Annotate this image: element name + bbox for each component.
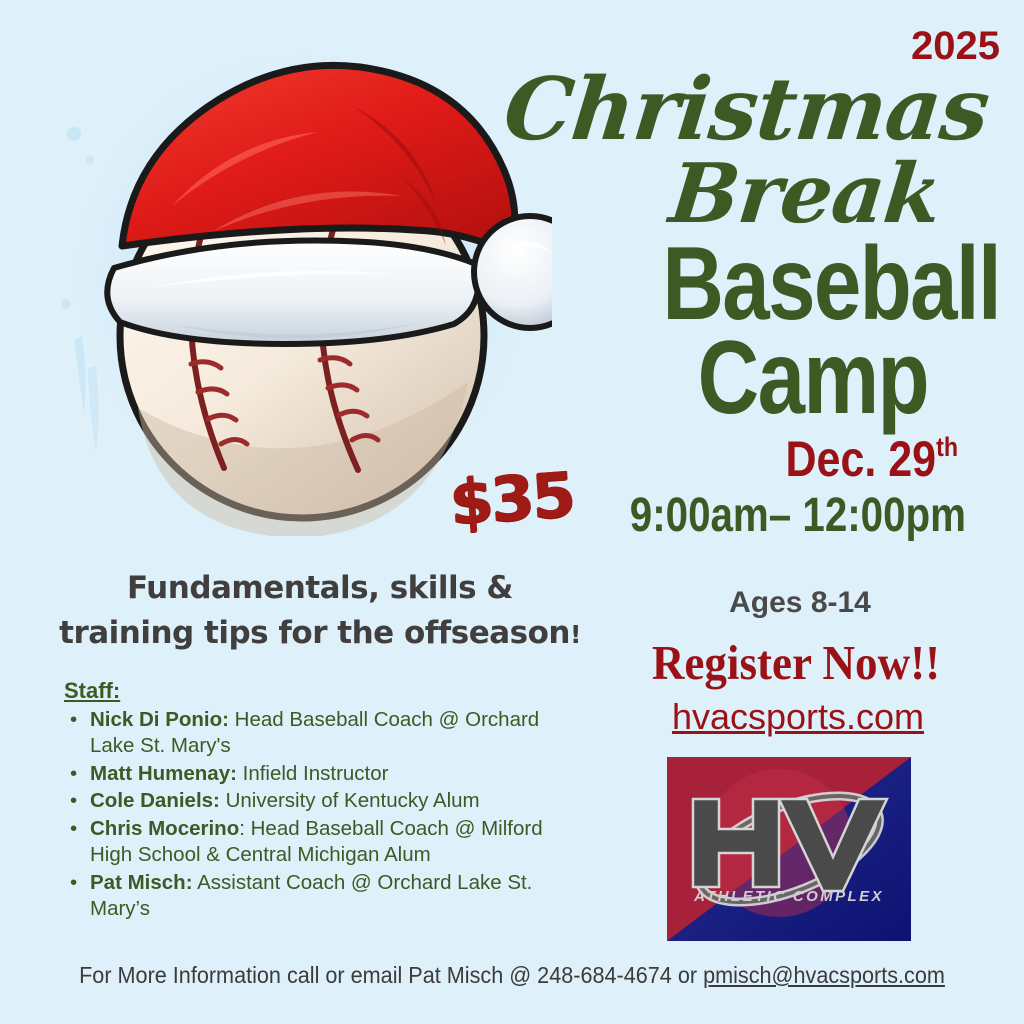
tagline-line-1: Fundamentals, skills & [127,570,513,606]
staff-role: University of Kentucky Alum [220,789,480,812]
list-item: • Cole Daniels: University of Kentucky A… [64,788,584,815]
footer-contact: For More Information call or email Pat M… [31,962,994,989]
list-item: • Chris Mocerino: Head Baseball Coach @ … [64,816,584,869]
logo-subtitle-text: ATHLETIC COMPLEX [693,888,884,905]
website-link[interactable]: hvacsports.com [598,696,998,738]
tagline-line-2: training tips for the offseason [59,615,570,651]
tagline-exclaim: ! [570,620,581,649]
hv-athletic-complex-logo: ATHLETIC COMPLEX [667,757,911,941]
price-badge: $35 [448,458,576,539]
staff-name: Matt Humenay: [90,762,237,785]
list-item: • Nick Di Ponio: Head Baseball Coach @ O… [64,707,584,760]
staff-name: Chris Mocerino [90,817,239,840]
bullet-icon: • [64,788,90,815]
event-date-suffix: th [936,432,958,462]
bullet-icon: • [64,870,90,897]
register-now-callout: Register Now!! [612,634,980,691]
footer-text: For More Information call or email Pat M… [79,962,703,988]
tagline: Fundamentals, skills & training tips for… [40,566,600,657]
staff-section: Staff: • Nick Di Ponio: Head Baseball Co… [64,678,584,923]
footer-email-link[interactable]: pmisch@hvacsports.com [703,962,945,988]
bullet-icon: • [64,816,90,843]
ages-label: Ages 8-14 [600,586,1000,620]
staff-role: Infield Instructor [237,762,389,785]
list-item: • Matt Humenay: Infield Instructor [64,761,584,788]
title-camp: Camp [167,322,928,434]
staff-entry: Matt Humenay: Infield Instructor [90,761,584,788]
list-item: • Pat Misch: Assistant Coach @ Orchard L… [64,870,584,923]
title-christmas: Christmas [0,62,993,158]
flyer-poster: 2025 Christmas Break Baseball Camp Dec. … [0,0,1024,1024]
staff-entry: Pat Misch: Assistant Coach @ Orchard Lak… [90,870,584,923]
staff-entry: Cole Daniels: University of Kentucky Alu… [90,788,584,815]
staff-name: Cole Daniels: [90,789,220,812]
bullet-icon: • [64,761,90,788]
staff-entry: Chris Mocerino: Head Baseball Coach @ Mi… [90,816,584,869]
bullet-icon: • [64,707,90,734]
staff-name: Pat Misch: [90,871,193,894]
event-date-text: Dec. 29 [785,431,936,487]
staff-entry: Nick Di Ponio: Head Baseball Coach @ Orc… [90,707,584,760]
staff-heading: Staff: [64,678,584,705]
staff-name: Nick Di Ponio: [90,708,229,731]
